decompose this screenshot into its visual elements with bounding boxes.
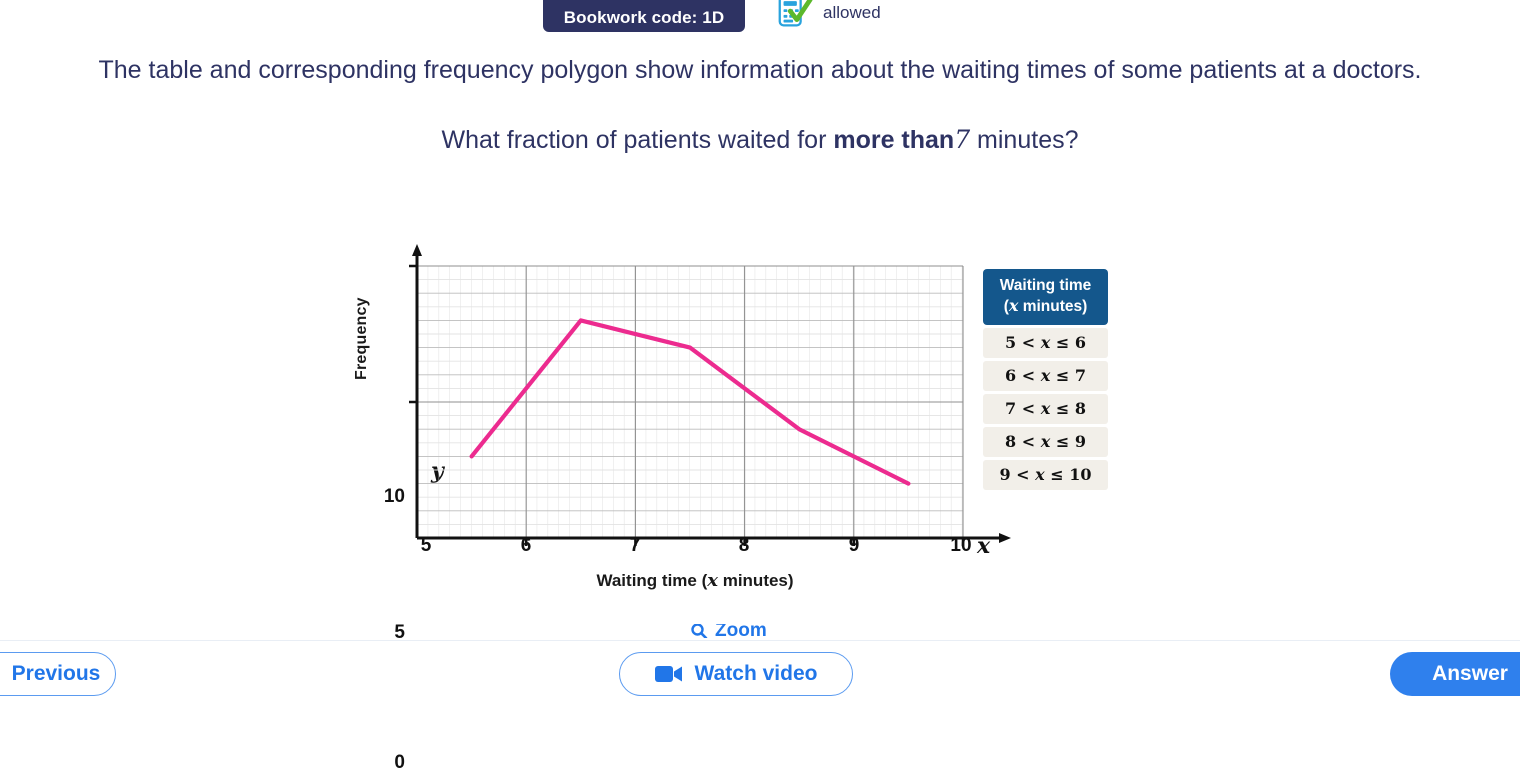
bookwork-code-badge: Bookwork code: 1D bbox=[543, 0, 745, 32]
x-tick-10: 10 bbox=[941, 535, 981, 557]
x-axis-label-prefix: Waiting time ( bbox=[596, 571, 707, 590]
row-var: x bbox=[1041, 432, 1051, 451]
waiting-time-table: Waiting time (x minutes) 5 < x ≤ 6 6 < x… bbox=[983, 269, 1108, 490]
row-op2: ≤ bbox=[1056, 333, 1069, 352]
question-main-suffix: minutes? bbox=[970, 126, 1078, 154]
table-header: Waiting time (x minutes) bbox=[983, 269, 1108, 325]
row-lo: 8 bbox=[1005, 432, 1016, 451]
table-row: 8 < x ≤ 9 bbox=[983, 427, 1108, 457]
table-row: 6 < x ≤ 7 bbox=[983, 361, 1108, 391]
table-header-line2: (x minutes) bbox=[987, 296, 1104, 317]
zoom-control-label: Zoom bbox=[715, 624, 767, 638]
watch-video-button[interactable]: Watch video bbox=[619, 652, 853, 696]
row-lo: 5 bbox=[1005, 333, 1016, 352]
row-op2: ≤ bbox=[1050, 465, 1063, 484]
top-bar: Bookwork code: 1D allowed bbox=[0, 0, 1520, 32]
answer-button-label: Answer bbox=[1432, 662, 1508, 686]
previous-button[interactable]: Previous bbox=[0, 652, 116, 696]
magnifier-icon bbox=[690, 624, 708, 638]
row-lo: 7 bbox=[1005, 399, 1016, 418]
question-main-value: 7 bbox=[954, 125, 970, 154]
chart-plot-svg bbox=[395, 230, 1035, 550]
row-op2: ≤ bbox=[1056, 366, 1069, 385]
x-tick-6: 6 bbox=[506, 535, 546, 557]
table-header-var: x bbox=[1009, 296, 1019, 315]
question-block: The table and corresponding frequency po… bbox=[0, 52, 1520, 158]
x-tick-8: 8 bbox=[724, 535, 764, 557]
x-tick-9: 9 bbox=[834, 535, 874, 557]
table-header-rest: minutes) bbox=[1018, 298, 1087, 315]
row-lo: 6 bbox=[1005, 366, 1016, 385]
table-row: 9 < x ≤ 10 bbox=[983, 460, 1108, 490]
row-lo: 9 bbox=[999, 465, 1010, 484]
video-camera-icon bbox=[655, 664, 683, 684]
row-var: x bbox=[1041, 333, 1051, 352]
question-main-prefix: What fraction of patients waited for bbox=[441, 126, 833, 154]
row-hi: 6 bbox=[1075, 333, 1086, 352]
row-hi: 8 bbox=[1075, 399, 1086, 418]
y-tick-0: 0 bbox=[367, 752, 405, 774]
table-row: 5 < x ≤ 6 bbox=[983, 328, 1108, 358]
previous-button-label: Previous bbox=[12, 662, 101, 686]
x-axis-label-suffix: minutes) bbox=[718, 571, 794, 590]
row-var: x bbox=[1041, 366, 1051, 385]
bookwork-code-label: Bookwork code: 1D bbox=[564, 8, 724, 28]
chart-gridlines bbox=[417, 266, 963, 538]
x-axis-label-var: x bbox=[707, 570, 718, 591]
row-op2: ≤ bbox=[1056, 432, 1069, 451]
table-row: 7 < x ≤ 8 bbox=[983, 394, 1108, 424]
row-op1: < bbox=[1022, 399, 1035, 418]
chart-x-axis-label: Waiting time (x minutes) bbox=[345, 570, 1045, 591]
row-hi: 7 bbox=[1075, 366, 1086, 385]
row-op1: < bbox=[1022, 432, 1035, 451]
row-hi: 9 bbox=[1075, 432, 1086, 451]
row-op1: < bbox=[1022, 333, 1035, 352]
row-op2: ≤ bbox=[1056, 399, 1069, 418]
question-main: What fraction of patients waited for mor… bbox=[0, 122, 1520, 158]
question-intro: The table and corresponding frequency po… bbox=[0, 52, 1520, 88]
footer-bar: Previous Watch video Answer bbox=[0, 640, 1520, 706]
watch-video-button-label: Watch video bbox=[695, 662, 818, 686]
table-header-line1: Waiting time bbox=[987, 276, 1104, 296]
row-var: x bbox=[1041, 399, 1051, 418]
calculator-allowed-group: allowed bbox=[775, 0, 881, 32]
calculator-allowed-label: allowed bbox=[823, 3, 881, 23]
answer-button[interactable]: Answer bbox=[1390, 652, 1520, 696]
question-main-bold: more than bbox=[833, 126, 954, 154]
x-tick-7: 7 bbox=[615, 535, 655, 557]
x-tick-5: 5 bbox=[406, 535, 446, 557]
row-hi: 10 bbox=[1069, 465, 1091, 484]
zoom-control[interactable]: Zoom bbox=[690, 624, 767, 638]
row-op1: < bbox=[1016, 465, 1029, 484]
chart-y-axis-label: Frequency bbox=[353, 297, 371, 380]
calculator-check-icon bbox=[775, 0, 813, 32]
row-op1: < bbox=[1022, 366, 1035, 385]
row-var: x bbox=[1035, 465, 1045, 484]
